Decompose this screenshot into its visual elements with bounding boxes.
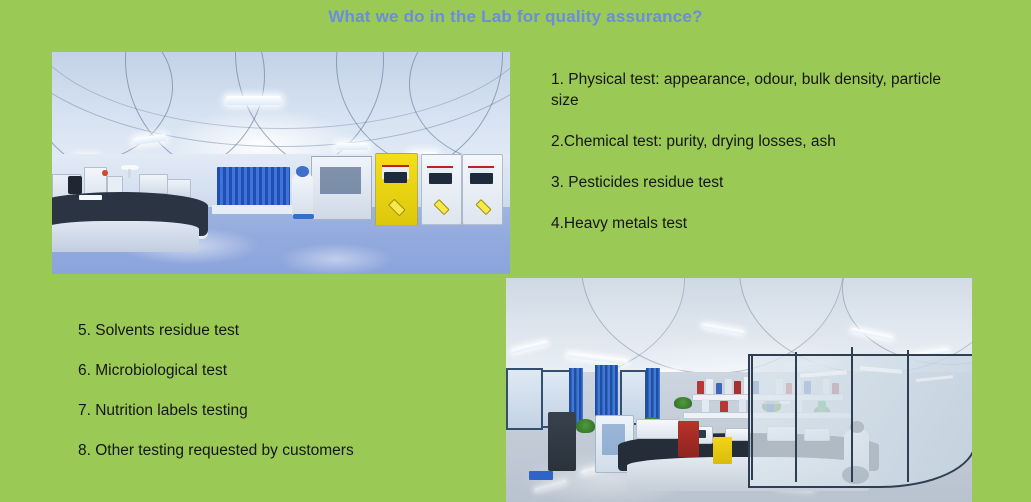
glass-reflection-4 (762, 401, 790, 404)
left-dark-unit (68, 176, 82, 194)
blue-curtain (217, 167, 290, 207)
bench-lamp-stem (128, 169, 131, 178)
test-item-7: 7. Nutrition labels testing (78, 400, 498, 421)
plant-1 (576, 419, 595, 432)
red-door (678, 421, 699, 457)
blue-floor-box (529, 471, 552, 480)
glass-mullion-1 (751, 354, 754, 479)
glass-mullion-2 (795, 352, 798, 482)
yellow-safety-cabinet (375, 153, 418, 226)
yellow-cabinet-b (713, 437, 732, 464)
white-safety-cabinet-2 (462, 154, 503, 225)
window-left-1 (506, 368, 543, 430)
dark-cabinet (548, 412, 576, 470)
test-list-left: 5. Solvents residue test 6. Microbiologi… (78, 320, 498, 480)
panorama-scene-top (52, 52, 510, 274)
test-item-8: 8. Other testing requested by customers (78, 440, 498, 461)
reagent-bottle-16 (739, 399, 746, 412)
lab-technician-body (292, 174, 313, 216)
white-safety-cabinet-1 (421, 154, 462, 225)
reagent-bottle-15 (720, 401, 727, 412)
test-item-3: 3. Pesticides residue test (551, 172, 943, 193)
reagent-bottle-5 (734, 381, 741, 394)
white-cabinet-window-1 (429, 173, 452, 184)
lab-bench-left-base (52, 221, 199, 252)
glass-mullion-4 (907, 350, 910, 482)
bench-instrument-1 (636, 419, 680, 439)
page-title: What we do in the Lab for quality assura… (0, 4, 1031, 30)
technician-shoe-covers (293, 214, 314, 219)
curtain-skirting (212, 205, 294, 214)
reagent-bottle-1 (697, 381, 704, 394)
panorama-scene-bottom (506, 278, 972, 502)
slide-canvas: What we do in the Lab for quality assura… (0, 0, 1031, 502)
ceiling-light-3 (336, 143, 368, 150)
bench-paper (79, 195, 102, 200)
ceiling-light-2 (226, 96, 281, 105)
blue-curtain-b-3 (646, 368, 660, 424)
lab-panorama-bottom-image (506, 278, 972, 502)
reagent-bottle-3 (716, 383, 723, 394)
red-reagent-bottle (102, 170, 107, 177)
lab-panorama-top-image (52, 52, 510, 274)
left-instrument-3 (139, 174, 168, 194)
reagent-bottle-2 (706, 379, 713, 395)
reagent-bottle-4 (725, 379, 732, 395)
fume-hood-glass (320, 167, 361, 194)
yellow-cabinet-window (384, 172, 407, 183)
plant-3 (674, 397, 693, 409)
test-list-right: 1. Physical test: appearance, odour, bul… (551, 69, 943, 254)
glass-mullion-3 (851, 347, 854, 481)
test-item-4: 4.Heavy metals test (551, 213, 943, 234)
white-cabinet-window-2 (470, 173, 493, 184)
test-item-1: 1. Physical test: appearance, odour, bul… (551, 69, 943, 111)
glass-partition-wall (748, 354, 972, 488)
test-item-5: 5. Solvents residue test (78, 320, 498, 341)
test-item-6: 6. Microbiological test (78, 360, 498, 381)
reagent-bottle-14 (702, 399, 709, 412)
test-item-2: 2.Chemical test: purity, drying losses, … (551, 131, 943, 152)
